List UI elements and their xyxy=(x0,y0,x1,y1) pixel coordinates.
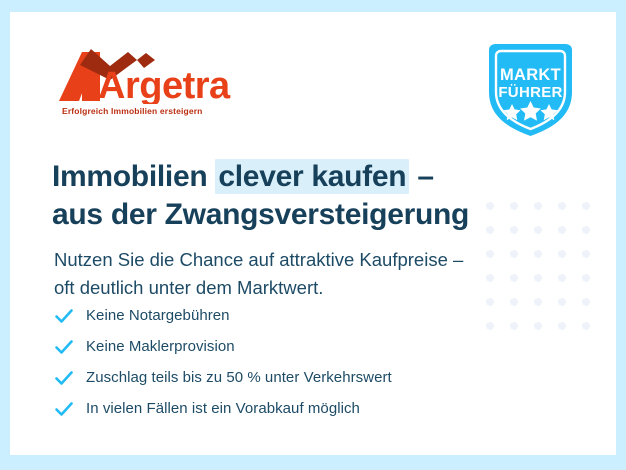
brand-logo[interactable]: Argetra Erfolgreich Immobilien ersteiger… xyxy=(58,48,258,124)
ad-canvas: Argetra Erfolgreich Immobilien ersteiger… xyxy=(10,12,616,455)
list-item: Keine Maklerprovision xyxy=(54,331,392,362)
grid-dot xyxy=(534,250,542,258)
grid-dot xyxy=(510,250,518,258)
grid-dot xyxy=(534,322,542,330)
list-item: Keine Notargebühren xyxy=(54,300,392,331)
headline-highlight: clever kaufen xyxy=(215,159,409,194)
subheadline-line2: oft deutlich unter dem Marktwert. xyxy=(54,277,323,298)
grid-dot xyxy=(582,250,590,258)
grid-dot xyxy=(558,298,566,306)
list-item: Zuschlag teils bis zu 50 % unter Verkehr… xyxy=(54,362,392,393)
grid-dot xyxy=(486,202,494,210)
grid-dot xyxy=(534,226,542,234)
check-icon xyxy=(54,337,74,357)
headline-text-post: – xyxy=(409,160,433,193)
check-icon xyxy=(54,368,74,388)
benefit-label: Keine Maklerprovision xyxy=(86,338,235,355)
grid-dot xyxy=(582,298,590,306)
headline-line1: Immobilien clever kaufen – xyxy=(52,159,434,194)
check-icon xyxy=(54,306,74,326)
argetra-roof-a-icon: Argetra xyxy=(58,48,258,104)
grid-dot xyxy=(558,202,566,210)
benefit-label: In vielen Fällen ist ein Vorabkauf mögli… xyxy=(86,400,360,417)
grid-dot xyxy=(558,274,566,282)
svg-text:Argetra: Argetra xyxy=(98,65,231,104)
grid-dot xyxy=(510,298,518,306)
grid-dot xyxy=(510,322,518,330)
logo-tagline: Erfolgreich Immobilien ersteigern xyxy=(62,106,203,116)
grid-dot xyxy=(534,298,542,306)
badge-line2: FÜHRER xyxy=(498,84,562,101)
badge-line1: MARKT xyxy=(500,66,561,84)
headline-text-pre: Immobilien xyxy=(52,160,215,193)
grid-dot xyxy=(582,226,590,234)
grid-dot xyxy=(486,226,494,234)
grid-dot xyxy=(486,274,494,282)
grid-dot xyxy=(534,202,542,210)
market-leader-badge: MARKT FÜHRER xyxy=(483,40,578,140)
benefit-label: Zuschlag teils bis zu 50 % unter Verkehr… xyxy=(86,369,392,386)
benefit-label: Keine Notargebühren xyxy=(86,307,230,324)
grid-dot xyxy=(558,250,566,258)
headline-line2: aus der Zwangsversteigerung xyxy=(52,198,469,231)
grid-dot xyxy=(510,226,518,234)
grid-dot xyxy=(558,226,566,234)
list-item: In vielen Fällen ist ein Vorabkauf mögli… xyxy=(54,393,392,424)
grid-dot xyxy=(510,274,518,282)
benefits-list: Keine Notargebühren Keine Maklerprovisio… xyxy=(54,300,392,424)
grid-dot xyxy=(510,202,518,210)
page-subheadline: Nutzen Sie die Chance auf attraktive Kau… xyxy=(54,246,463,303)
grid-dot xyxy=(582,274,590,282)
grid-dot xyxy=(486,298,494,306)
check-icon xyxy=(54,399,74,419)
grid-dot xyxy=(582,322,590,330)
grid-dot xyxy=(582,202,590,210)
grid-dot xyxy=(534,274,542,282)
grid-dot xyxy=(486,322,494,330)
dot-grid-decoration xyxy=(486,202,606,346)
grid-dot xyxy=(558,322,566,330)
subheadline-line1: Nutzen Sie die Chance auf attraktive Kau… xyxy=(54,249,463,270)
grid-dot xyxy=(486,250,494,258)
ad-banner: Argetra Erfolgreich Immobilien ersteiger… xyxy=(0,0,626,470)
page-headline: Immobilien clever kaufen – aus der Zwang… xyxy=(52,158,469,234)
